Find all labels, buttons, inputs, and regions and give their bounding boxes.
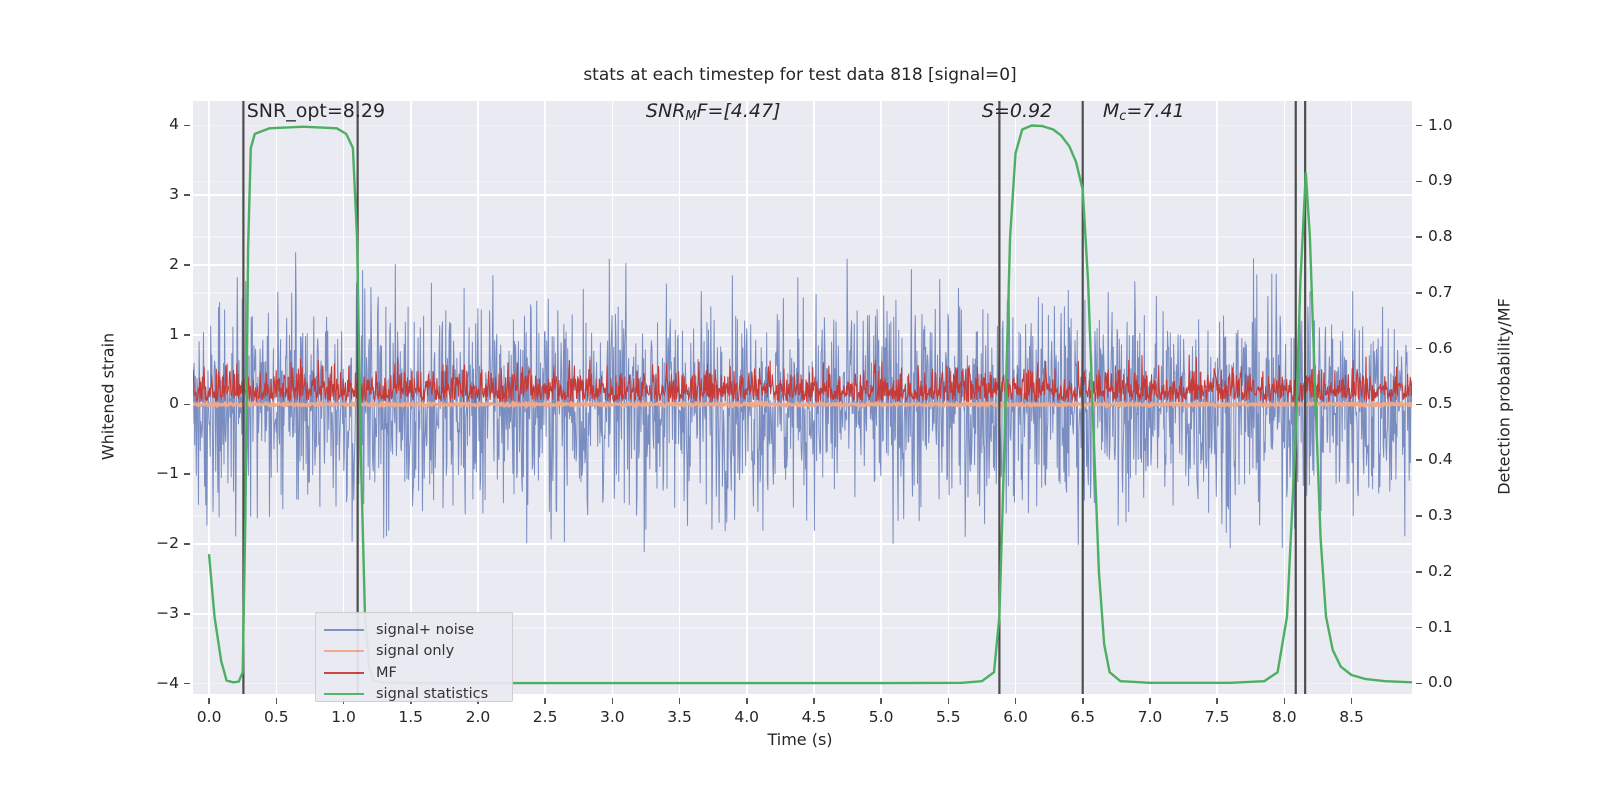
annotation-chirp-mass: Mc=7.41 xyxy=(1103,100,1185,124)
legend-label: MF xyxy=(376,665,397,681)
tick-mark xyxy=(813,698,815,704)
y-tick-label-right: 0.2 xyxy=(1428,562,1476,580)
tick-mark xyxy=(184,543,190,545)
tick-mark xyxy=(208,698,210,704)
x-tick-label: 6.0 xyxy=(986,708,1046,726)
legend-swatch-icon xyxy=(324,672,364,674)
chart-title: stats at each timestep for test data 818… xyxy=(0,65,1600,85)
y-tick-label-right: 0.6 xyxy=(1428,339,1476,357)
x-tick-label: 8.5 xyxy=(1322,708,1382,726)
tick-mark xyxy=(1416,236,1422,238)
tick-mark xyxy=(1416,348,1422,350)
x-tick-label: 0.0 xyxy=(179,708,239,726)
y-tick-label-left: −1 xyxy=(131,464,179,482)
y-axis-label-left: Whitened strain xyxy=(99,266,118,526)
legend[interactable]: signal+ noisesignal onlyMFsignal statist… xyxy=(315,612,513,702)
tick-mark xyxy=(1416,459,1422,461)
tick-mark xyxy=(746,698,748,704)
x-tick-label: 3.5 xyxy=(650,708,710,726)
y-tick-label-left: 1 xyxy=(131,325,179,343)
tick-mark xyxy=(184,125,190,127)
tick-mark xyxy=(276,698,278,704)
legend-label: signal+ noise xyxy=(376,622,474,638)
x-tick-label: 0.5 xyxy=(246,708,306,726)
y-tick-label-left: 3 xyxy=(131,185,179,203)
tick-mark xyxy=(1416,571,1422,573)
x-tick-label: 5.5 xyxy=(918,708,978,726)
legend-label: signal only xyxy=(376,643,454,659)
x-tick-label: 2.5 xyxy=(515,708,575,726)
tick-mark xyxy=(184,683,190,685)
tick-mark xyxy=(1284,698,1286,704)
y-tick-label-right: 0.0 xyxy=(1428,673,1476,691)
x-tick-label: 6.5 xyxy=(1053,708,1113,726)
y-tick-label-left: 4 xyxy=(131,115,179,133)
y-tick-label-left: 2 xyxy=(131,255,179,273)
y-tick-label-left: −4 xyxy=(131,674,179,692)
x-tick-label: 5.0 xyxy=(851,708,911,726)
tick-mark xyxy=(948,698,950,704)
x-tick-label: 1.5 xyxy=(381,708,441,726)
tick-mark xyxy=(1416,404,1422,406)
tick-mark xyxy=(679,698,681,704)
y-tick-label-right: 0.7 xyxy=(1428,283,1476,301)
y-tick-label-left: −3 xyxy=(131,604,179,622)
x-tick-label: 1.0 xyxy=(314,708,374,726)
tick-mark xyxy=(184,194,190,196)
x-tick-label: 3.0 xyxy=(582,708,642,726)
tick-mark xyxy=(184,613,190,615)
y-tick-label-right: 0.3 xyxy=(1428,506,1476,524)
tick-mark xyxy=(1015,698,1017,704)
tick-mark xyxy=(1416,125,1422,127)
plot-area xyxy=(193,101,1412,694)
tick-mark xyxy=(880,698,882,704)
tick-mark xyxy=(1416,627,1422,629)
legend-label: signal statistics xyxy=(376,686,488,702)
x-tick-label: 4.5 xyxy=(784,708,844,726)
tick-mark xyxy=(1149,698,1151,704)
y-tick-label-left: −2 xyxy=(131,534,179,552)
y-tick-label-right: 0.4 xyxy=(1428,450,1476,468)
y-tick-label-right: 1.0 xyxy=(1428,116,1476,134)
legend-swatch-icon xyxy=(324,693,364,695)
legend-entry[interactable]: MF xyxy=(324,662,504,684)
annotation-snr-opt: SNR_opt=8.29 xyxy=(247,100,385,122)
y-tick-label-right: 0.5 xyxy=(1428,394,1476,412)
plot-traces xyxy=(193,101,1412,694)
tick-mark xyxy=(1416,181,1422,183)
tick-mark xyxy=(184,264,190,266)
tick-mark xyxy=(1416,683,1422,685)
x-axis-label: Time (s) xyxy=(0,730,1600,749)
tick-mark xyxy=(184,473,190,475)
legend-entry[interactable]: signal statistics xyxy=(324,684,504,706)
x-tick-label: 7.5 xyxy=(1187,708,1247,726)
tick-mark xyxy=(1351,698,1353,704)
x-tick-label: 7.0 xyxy=(1120,708,1180,726)
y-tick-label-right: 0.1 xyxy=(1428,618,1476,636)
tick-mark xyxy=(1216,698,1218,704)
tick-mark xyxy=(184,404,190,406)
tick-mark xyxy=(612,698,614,704)
legend-swatch-icon xyxy=(324,629,364,631)
legend-swatch-icon xyxy=(324,650,364,652)
tick-mark xyxy=(1416,292,1422,294)
legend-entry[interactable]: signal only xyxy=(324,641,504,663)
annotation-signal-stat: S=0.92 xyxy=(982,100,1052,122)
tick-mark xyxy=(544,698,546,704)
tick-mark xyxy=(184,334,190,336)
y-axis-label-right: Detection probability/MF xyxy=(1495,231,1514,561)
figure-canvas: stats at each timestep for test data 818… xyxy=(0,0,1600,800)
x-tick-label: 2.0 xyxy=(448,708,508,726)
x-tick-label: 4.0 xyxy=(717,708,777,726)
tick-mark xyxy=(1082,698,1084,704)
annotation-snr-mf: SNRMF=[4.47] xyxy=(646,100,781,124)
legend-entry[interactable]: signal+ noise xyxy=(324,619,504,641)
y-tick-label-right: 0.9 xyxy=(1428,171,1476,189)
x-tick-label: 8.0 xyxy=(1254,708,1314,726)
tick-mark xyxy=(1416,515,1422,517)
y-tick-label-left: 0 xyxy=(131,394,179,412)
y-tick-label-right: 0.8 xyxy=(1428,227,1476,245)
